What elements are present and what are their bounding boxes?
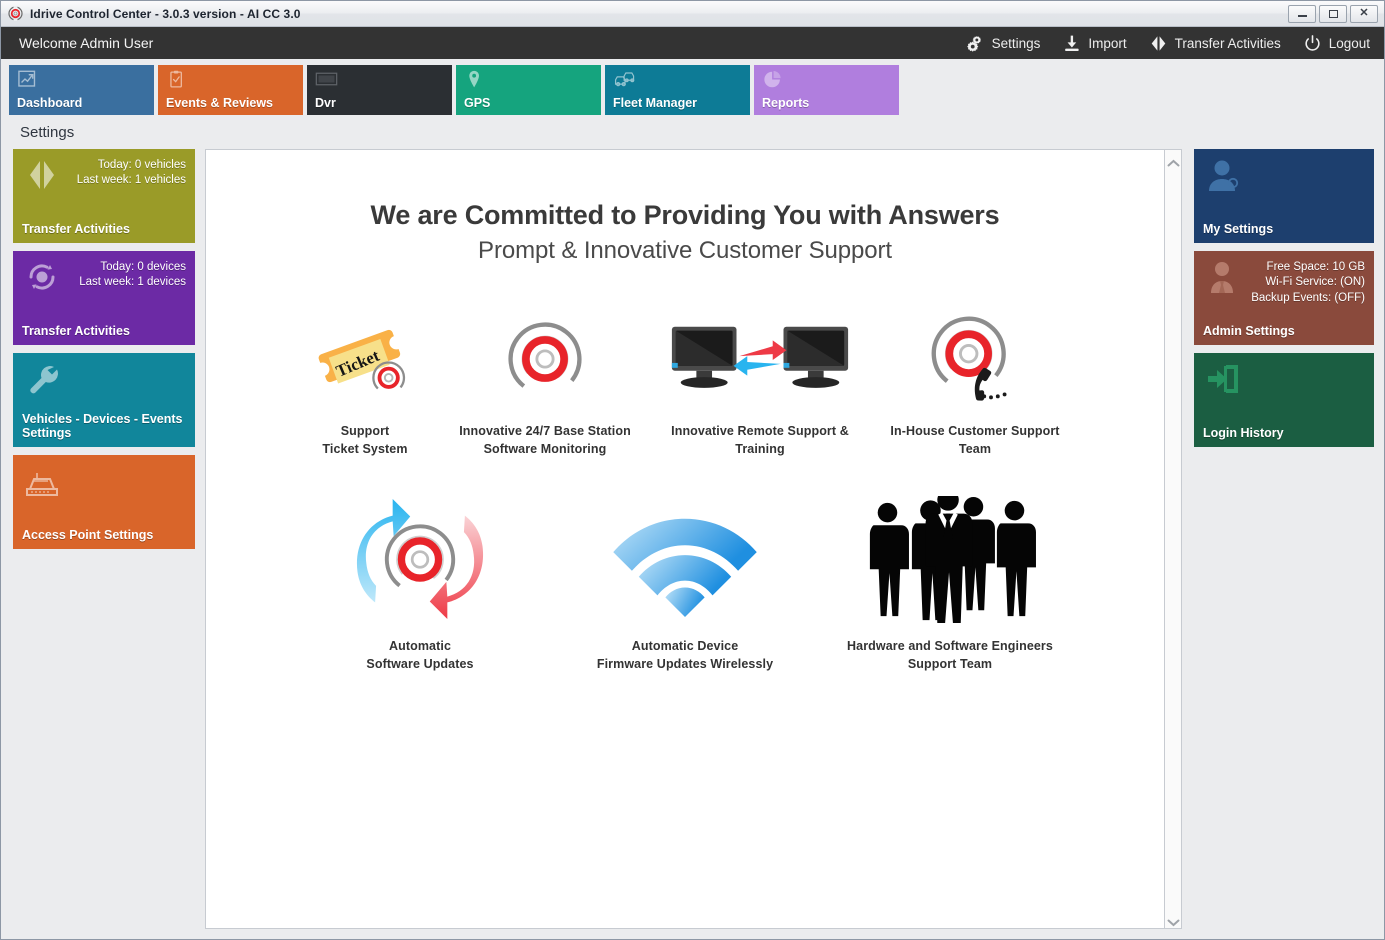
right-sidebar: My Settings Free Space: 10 GB Wi-Fi Serv…	[1194, 149, 1374, 929]
feature-row-2: Automatic Software Updates	[226, 494, 1144, 673]
feature-caption: Innovative 24/7 Base Station Software Mo…	[459, 423, 631, 458]
tab-reports-label: Reports	[762, 96, 809, 110]
tab-gps-label: GPS	[464, 96, 490, 110]
window-controls: ✕	[1288, 5, 1380, 23]
header-import-button[interactable]: Import	[1062, 34, 1126, 53]
minimize-button[interactable]	[1288, 5, 1316, 23]
maximize-button[interactable]	[1319, 5, 1347, 23]
scroll-down-arrow[interactable]	[1167, 914, 1180, 923]
people-group-icon	[852, 494, 1048, 624]
support-ticket-icon: Ticket	[311, 309, 419, 409]
gears-icon	[966, 34, 985, 53]
tile-transfer-activities-vehicles[interactable]: Today: 0 vehicles Last week: 1 vehicles …	[13, 149, 195, 243]
caption-line: Support	[341, 424, 390, 438]
tab-events-reviews-label: Events & Reviews	[166, 96, 273, 110]
tab-events-reviews[interactable]: Events & Reviews	[158, 65, 303, 115]
tile-stat-line: Last week: 1 vehicles	[77, 174, 186, 186]
tile-access-point-settings[interactable]: Access Point Settings	[13, 455, 195, 549]
header-transfer-label: Transfer Activities	[1175, 36, 1281, 51]
target-phone-icon	[924, 309, 1026, 409]
router-icon	[21, 461, 63, 501]
tile-label: Transfer Activities	[22, 222, 189, 237]
window-title: Idrive Control Center - 3.0.3 version - …	[30, 7, 301, 21]
pie-chart-icon	[762, 70, 784, 89]
wifi-signal-icon	[611, 494, 759, 624]
tile-login-history[interactable]: Login History	[1194, 353, 1374, 447]
tab-dashboard[interactable]: Dashboard	[9, 65, 154, 115]
header-logout-button[interactable]: Logout	[1303, 34, 1370, 53]
caption-line: Automatic Device	[632, 639, 739, 653]
breadcrumb: Settings	[20, 124, 74, 141]
maximize-icon	[1329, 10, 1338, 18]
tile-stats: Free Space: 10 GB Wi-Fi Service: (ON) Ba…	[1251, 260, 1365, 306]
header-settings-label: Settings	[992, 36, 1041, 51]
wrench-icon	[21, 359, 63, 399]
feature-automatic-firmware-updates: Automatic Device Firmware Updates Wirele…	[545, 494, 825, 673]
tile-vehicles-devices-events-settings[interactable]: Vehicles - Devices - Events Settings	[13, 353, 195, 447]
login-door-icon	[1202, 359, 1244, 399]
welcome-content: We are Committed to Providing You with A…	[206, 150, 1164, 673]
left-sidebar: Today: 0 vehicles Last week: 1 vehicles …	[13, 149, 195, 929]
tile-my-settings[interactable]: My Settings	[1194, 149, 1374, 243]
tile-stat-line: Free Space: 10 GB	[1267, 261, 1365, 273]
feature-remote-support-training: Innovative Remote Support & Training	[650, 309, 870, 458]
page-body: Today: 0 vehicles Last week: 1 vehicles …	[1, 149, 1384, 939]
transfer-arrows-icon	[1149, 34, 1168, 53]
scroll-up-arrow[interactable]	[1167, 155, 1180, 164]
header-actions: Settings Import Transf	[966, 34, 1370, 53]
tile-stats: Today: 0 vehicles Last week: 1 vehicles	[77, 158, 186, 189]
tile-stat-line: Last week: 1 devices	[79, 276, 186, 288]
welcome-message: Welcome Admin User	[19, 35, 153, 51]
remote-monitors-icon	[667, 309, 853, 409]
breadcrumb-bar: Settings	[1, 115, 1384, 149]
power-icon	[1303, 34, 1322, 53]
header-settings-button[interactable]: Settings	[966, 34, 1041, 53]
header-bar: Welcome Admin User Settings	[1, 27, 1384, 59]
caption-line: Training	[735, 442, 784, 456]
minimize-icon	[1298, 15, 1307, 17]
map-pin-icon	[464, 70, 486, 89]
tab-fleet-manager[interactable]: Fleet Manager	[605, 65, 750, 115]
target-logo-icon	[502, 309, 588, 409]
content-headline: We are Committed to Providing You with A…	[226, 200, 1144, 231]
feature-row-1: Ticket Support	[226, 309, 1144, 458]
feature-support-ticket-system: Ticket Support	[290, 309, 440, 458]
title-bar: Idrive Control Center - 3.0.3 version - …	[1, 1, 1384, 27]
tile-label: My Settings	[1203, 222, 1368, 237]
feature-caption: Innovative Remote Support & Training	[671, 423, 849, 458]
header-transfer-activities-button[interactable]: Transfer Activities	[1149, 34, 1281, 53]
caption-line: Hardware and Software Engineers	[847, 639, 1053, 653]
tile-label: Vehicles - Devices - Events Settings	[22, 412, 189, 442]
tab-dashboard-label: Dashboard	[17, 96, 82, 110]
feature-in-house-support-team: In-House Customer Support Team	[870, 309, 1080, 458]
feature-caption: Automatic Software Updates	[366, 638, 473, 673]
close-icon: ✕	[1359, 8, 1368, 19]
tile-stat-line: Backup Events: (OFF)	[1251, 292, 1365, 304]
feature-base-station-monitoring: Innovative 24/7 Base Station Software Mo…	[440, 309, 650, 458]
feature-caption: Automatic Device Firmware Updates Wirele…	[597, 638, 773, 673]
content-scrollbar[interactable]	[1165, 149, 1182, 929]
download-icon	[1062, 34, 1081, 53]
tile-admin-settings[interactable]: Free Space: 10 GB Wi-Fi Service: (ON) Ba…	[1194, 251, 1374, 345]
feature-caption: Hardware and Software Engineers Support …	[847, 638, 1053, 673]
caption-line: Innovative Remote Support &	[671, 424, 849, 438]
caption-line: Ticket System	[322, 442, 407, 456]
tile-label: Access Point Settings	[22, 528, 189, 543]
header-logout-label: Logout	[1329, 36, 1370, 51]
caption-line: Firmware Updates Wirelessly	[597, 657, 773, 671]
caption-line: Team	[959, 442, 991, 456]
chart-trend-icon	[17, 70, 39, 89]
tab-fleet-manager-label: Fleet Manager	[613, 96, 697, 110]
tile-stat-line: Wi-Fi Service: (ON)	[1265, 276, 1365, 288]
caption-line: Automatic	[389, 639, 451, 653]
clipboard-check-icon	[166, 70, 188, 89]
close-button[interactable]: ✕	[1350, 5, 1378, 23]
caption-line: Support Team	[908, 657, 992, 671]
tile-stat-line: Today: 0 vehicles	[98, 159, 186, 171]
feature-hardware-software-engineers: Hardware and Software Engineers Support …	[825, 494, 1075, 673]
tile-transfer-activities-devices[interactable]: Today: 0 devices Last week: 1 devices Tr…	[13, 251, 195, 345]
app-logo-icon	[8, 6, 23, 21]
module-tabs: Dashboard Events & Reviews Dvr	[1, 59, 1384, 115]
user-settings-icon	[1202, 155, 1244, 195]
target-refresh-arrows-icon	[332, 494, 508, 624]
admin-user-icon	[1202, 257, 1244, 297]
caption-line: Software Monitoring	[484, 442, 607, 456]
feature-automatic-software-updates: Automatic Software Updates	[295, 494, 545, 673]
vehicles-icon	[613, 70, 635, 89]
center-panel-wrapper: We are Committed to Providing You with A…	[205, 149, 1182, 929]
application-window: Idrive Control Center - 3.0.3 version - …	[0, 0, 1385, 940]
header-import-label: Import	[1088, 36, 1126, 51]
content-panel: We are Committed to Providing You with A…	[205, 149, 1165, 929]
feature-caption: Support Ticket System	[322, 423, 407, 458]
caption-line: Innovative 24/7 Base Station	[459, 424, 631, 438]
tile-label: Admin Settings	[1203, 324, 1368, 339]
tile-stats: Today: 0 devices Last week: 1 devices	[79, 260, 186, 291]
tile-stat-line: Today: 0 devices	[100, 261, 186, 273]
tab-dvr[interactable]: Dvr	[307, 65, 452, 115]
tile-label: Transfer Activities	[22, 324, 189, 339]
dvr-device-icon	[315, 70, 337, 89]
caption-line: Software Updates	[366, 657, 473, 671]
caption-line: In-House Customer Support	[890, 424, 1059, 438]
feature-caption: In-House Customer Support Team	[890, 423, 1059, 458]
content-subheadline: Prompt & Innovative Customer Support	[226, 237, 1144, 265]
tile-label: Login History	[1203, 426, 1368, 441]
tab-gps[interactable]: GPS	[456, 65, 601, 115]
tab-dvr-label: Dvr	[315, 96, 336, 110]
tab-reports[interactable]: Reports	[754, 65, 899, 115]
device-sync-icon	[21, 257, 63, 297]
transfer-arrows-icon	[21, 155, 63, 195]
